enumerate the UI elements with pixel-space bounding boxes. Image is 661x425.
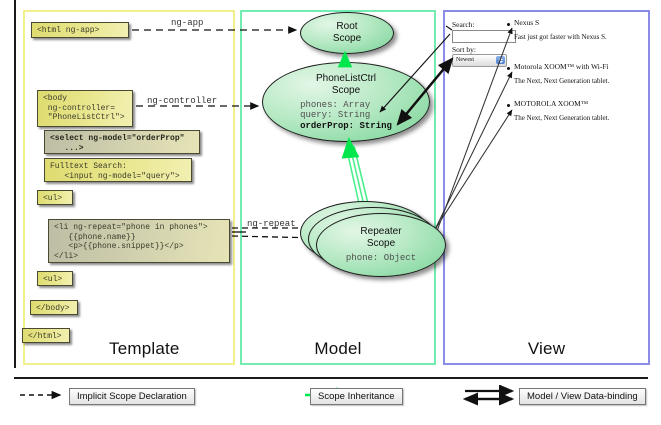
body-close-box: </body> [30, 300, 78, 315]
phonelistctrl-title-line2: Scope [332, 85, 360, 96]
view-sort-select[interactable]: Newest [452, 54, 507, 67]
ul-open-box: <ul> [37, 190, 73, 205]
phone-snippet: The Next, Next Generation tablet. [514, 77, 609, 85]
phonelistctrl-title-line1: PhoneListCtrl [316, 73, 376, 84]
prop-phones: phones: Array [300, 100, 392, 111]
view-sort-selected-value: Newest [456, 57, 474, 63]
phonelistctrl-scope: PhoneListCtrl Scope phones: Array query:… [262, 62, 430, 142]
ng-repeat-label: ng-repeat [247, 219, 296, 229]
body-controller-box: <body ng-controller= "PhoneListCtrl"> [37, 90, 133, 127]
chevron-updown-icon[interactable] [496, 56, 505, 64]
prop-phone: phone: Object [346, 253, 416, 264]
select-orderprop-box: <select ng-model="orderProp" ...> [44, 130, 200, 154]
prop-query: query: String [300, 110, 392, 121]
phone-name: Motorola XOOM™ with Wi-Fi [514, 62, 609, 71]
html-tag-box: <html ng-app> [31, 22, 129, 38]
root-scope: Root Scope [300, 12, 394, 54]
view-search-label: Search: [452, 20, 475, 29]
legend-scope-inheritance: Scope Inheritance [310, 388, 403, 405]
phone-snippet: The Next, Next Generation tablet. [514, 114, 609, 122]
legend-implicit-scope: Implicit Scope Declaration [69, 388, 195, 405]
html-close-box: </html> [22, 328, 70, 343]
repeater-scope-props: phone: Object [346, 253, 416, 264]
phone-name: Nexus S [514, 18, 539, 27]
diagram-root: Template Model View <html ng-app> <body … [0, 0, 661, 425]
li-ng-repeat-box: <li ng-repeat="phone in phones"> {{phone… [48, 219, 230, 263]
phonelistctrl-scope-props: phones: Array query: String orderProp: S… [300, 100, 392, 132]
view-search-input[interactable] [452, 30, 516, 43]
panel-model-label: Model [242, 339, 434, 359]
left-rule [14, 0, 16, 368]
list-bullet [507, 67, 510, 70]
prop-orderprop: orderProp: String [300, 121, 392, 132]
view-sort-label: Sort by: [452, 45, 476, 54]
ul-close-box: <ul> [37, 271, 73, 286]
root-scope-title: Root Scope [333, 21, 361, 45]
legend-separator [14, 377, 648, 379]
repeater-scope: Repeater Scope phone: Object [316, 213, 446, 277]
ng-app-label: ng-app [171, 18, 203, 28]
repeater-scope-title: Repeater Scope [360, 226, 401, 250]
phone-snippet: Fast just got faster with Nexus S. [514, 33, 607, 41]
legend-data-binding: Model / View Data-binding [519, 388, 646, 405]
phone-name: MOTOROLA XOOM™ [514, 99, 588, 108]
list-bullet [507, 104, 510, 107]
root-scope-title-line1: Root [336, 21, 357, 32]
repeater-title-line2: Scope [367, 238, 395, 249]
panel-view-label: View [445, 339, 648, 359]
repeater-title-line1: Repeater [360, 226, 401, 237]
ng-controller-label: ng-controller [147, 96, 217, 106]
phonelistctrl-scope-title: PhoneListCtrl Scope [316, 73, 376, 97]
root-scope-title-line2: Scope [333, 33, 361, 44]
list-bullet [507, 23, 510, 26]
fulltext-search-box: Fulltext Search: <input ng-model="query"… [44, 158, 192, 182]
